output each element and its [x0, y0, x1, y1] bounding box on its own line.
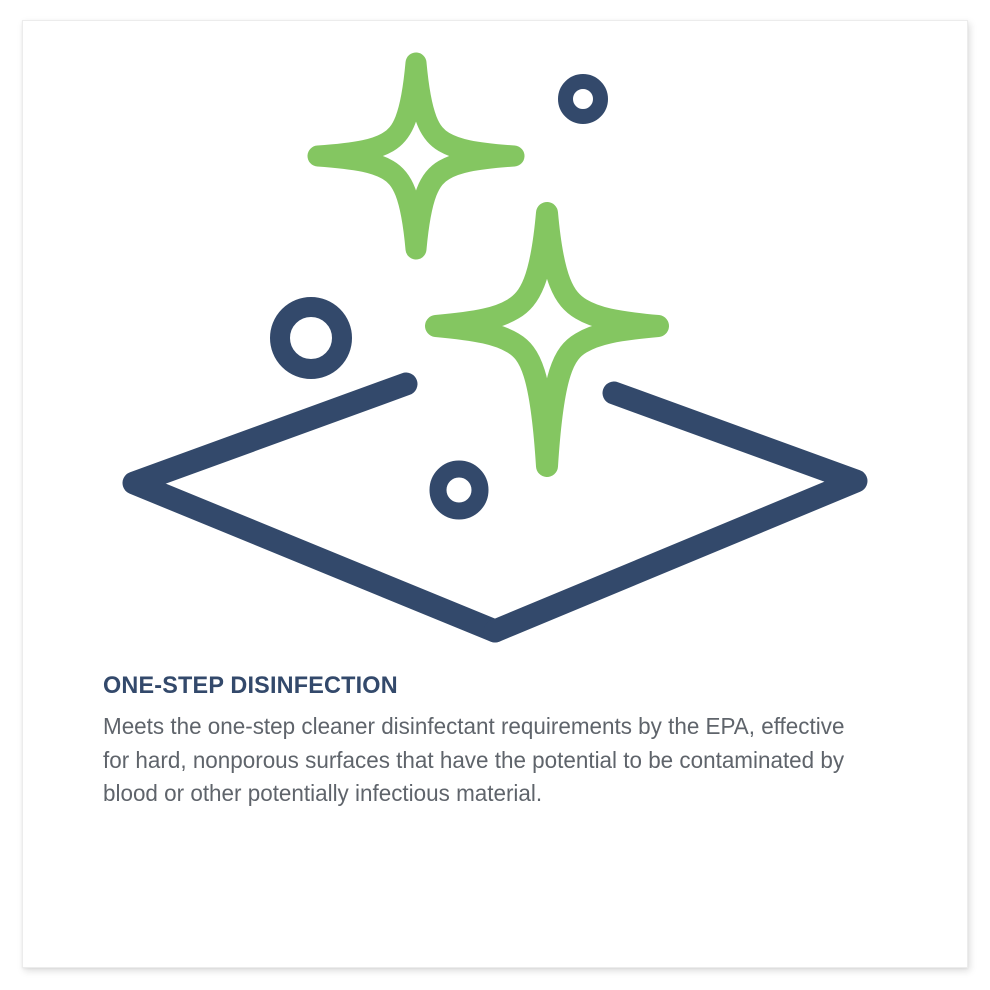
germ-dot-top-right-icon: [566, 82, 601, 117]
sparkle-large-icon: [436, 213, 658, 466]
feature-text-block: ONE-STEP DISINFECTION Meets the one-step…: [103, 671, 903, 810]
germ-dot-left-icon: [280, 307, 342, 369]
sparkle-small-icon: [318, 63, 514, 249]
feature-card: ONE-STEP DISINFECTION Meets the one-step…: [22, 20, 968, 968]
feature-description: Meets the one-step cleaner disinfectant …: [103, 710, 857, 810]
page-title: ONE-STEP DISINFECTION: [103, 671, 867, 700]
one-step-disinfection-icon: [23, 21, 969, 661]
surface-diamond-icon: [134, 384, 856, 631]
germ-dot-center-icon: [438, 469, 480, 511]
